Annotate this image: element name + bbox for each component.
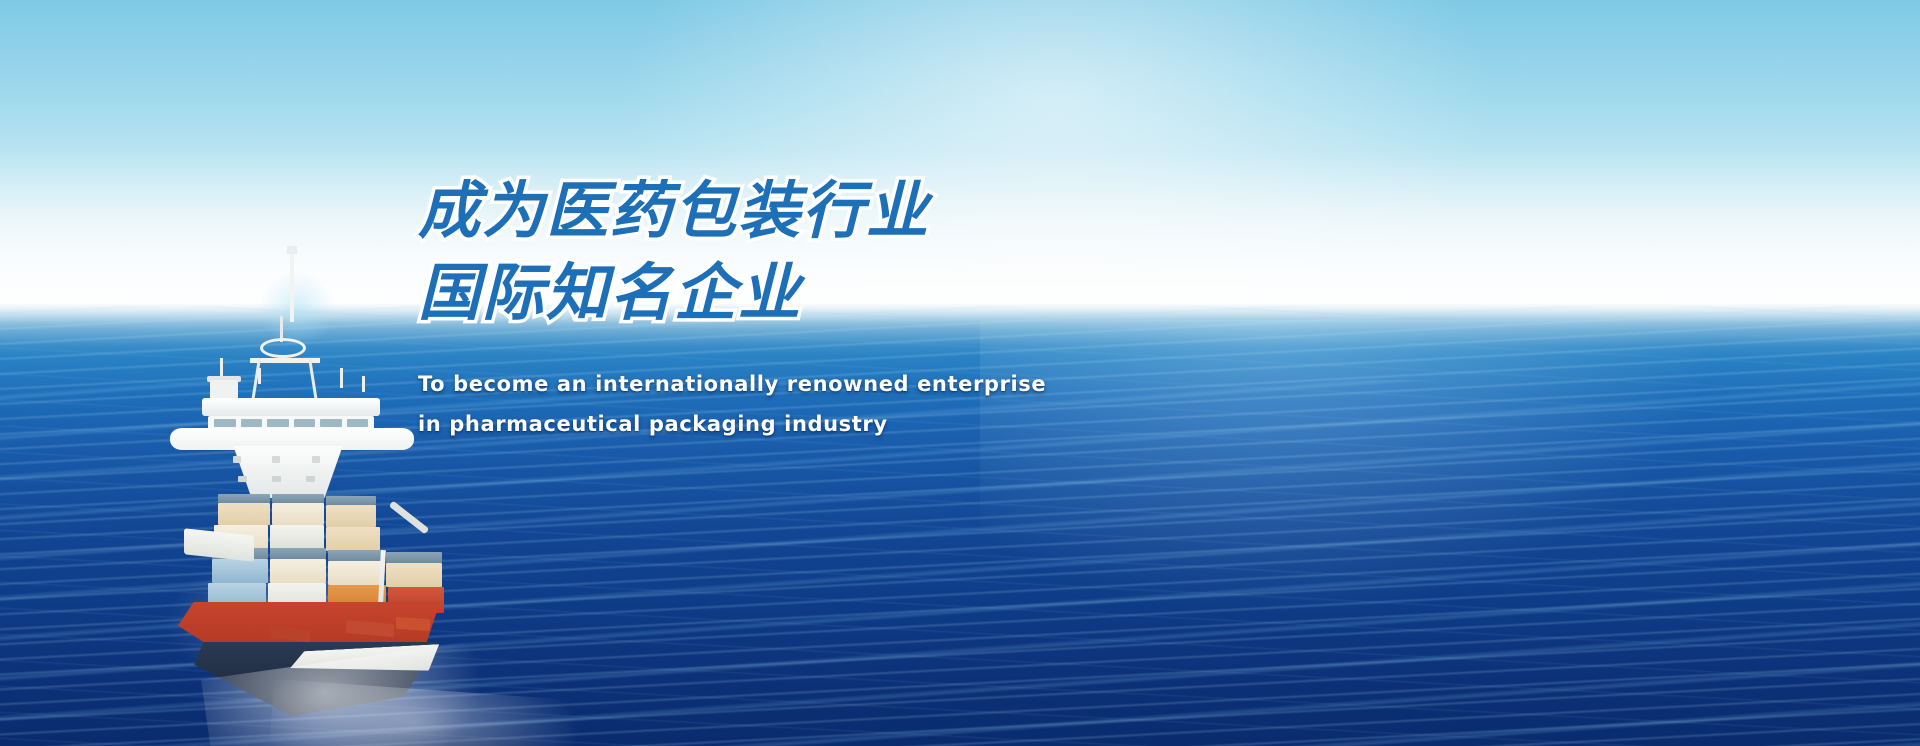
bridge-window xyxy=(241,419,263,427)
mast-cap xyxy=(287,246,297,254)
mast-light-halo xyxy=(258,270,336,348)
main-mast xyxy=(290,250,294,322)
deck-crane-arm xyxy=(389,501,430,535)
container xyxy=(326,496,376,505)
bridge-window xyxy=(267,419,289,427)
aerial-mast-d xyxy=(362,376,365,392)
container xyxy=(326,505,376,527)
container xyxy=(270,559,326,583)
container xyxy=(386,552,442,563)
hero-banner: 成为医药包装行业 国际知名企业 To become an internation… xyxy=(0,0,1920,746)
bridge-window xyxy=(294,419,316,427)
superstructure-window xyxy=(306,476,315,482)
aerial-mast-b xyxy=(258,368,261,384)
container xyxy=(270,548,326,559)
container xyxy=(272,494,324,503)
subline-group: To become an internationally renowned en… xyxy=(418,364,1318,444)
aerial-mast-c xyxy=(340,368,343,388)
superstructure-window xyxy=(312,456,320,463)
mast-leg-right xyxy=(308,358,318,404)
bridge-window xyxy=(214,419,236,427)
superstructure-window xyxy=(272,476,281,482)
deck-equipment xyxy=(396,617,430,631)
superstructure-window xyxy=(272,456,280,463)
superstructure-body xyxy=(212,446,364,498)
container xyxy=(270,525,324,549)
headline-line-1: 成为医药包装行业 xyxy=(418,168,1318,254)
subline-line-1: To become an internationally renowned en… xyxy=(418,364,1318,404)
container xyxy=(218,503,270,525)
superstructure-window xyxy=(233,456,241,463)
bridge-window xyxy=(347,419,369,427)
container xyxy=(218,494,270,503)
bridge-roof-deck xyxy=(202,398,380,416)
container xyxy=(212,559,268,583)
container xyxy=(386,563,442,587)
superstructure-window xyxy=(238,476,247,482)
headline-line-2: 国际知名企业 xyxy=(418,250,1318,336)
subline-line-2: in pharmaceutical packaging industry xyxy=(418,404,1318,444)
radar-scanner-icon xyxy=(260,338,306,358)
container xyxy=(272,503,324,525)
container xyxy=(328,561,384,585)
bridge-window xyxy=(320,419,342,427)
banner-copy: 成为医药包装行业 国际知名企业 To become an internation… xyxy=(418,168,1318,444)
container xyxy=(328,550,384,561)
